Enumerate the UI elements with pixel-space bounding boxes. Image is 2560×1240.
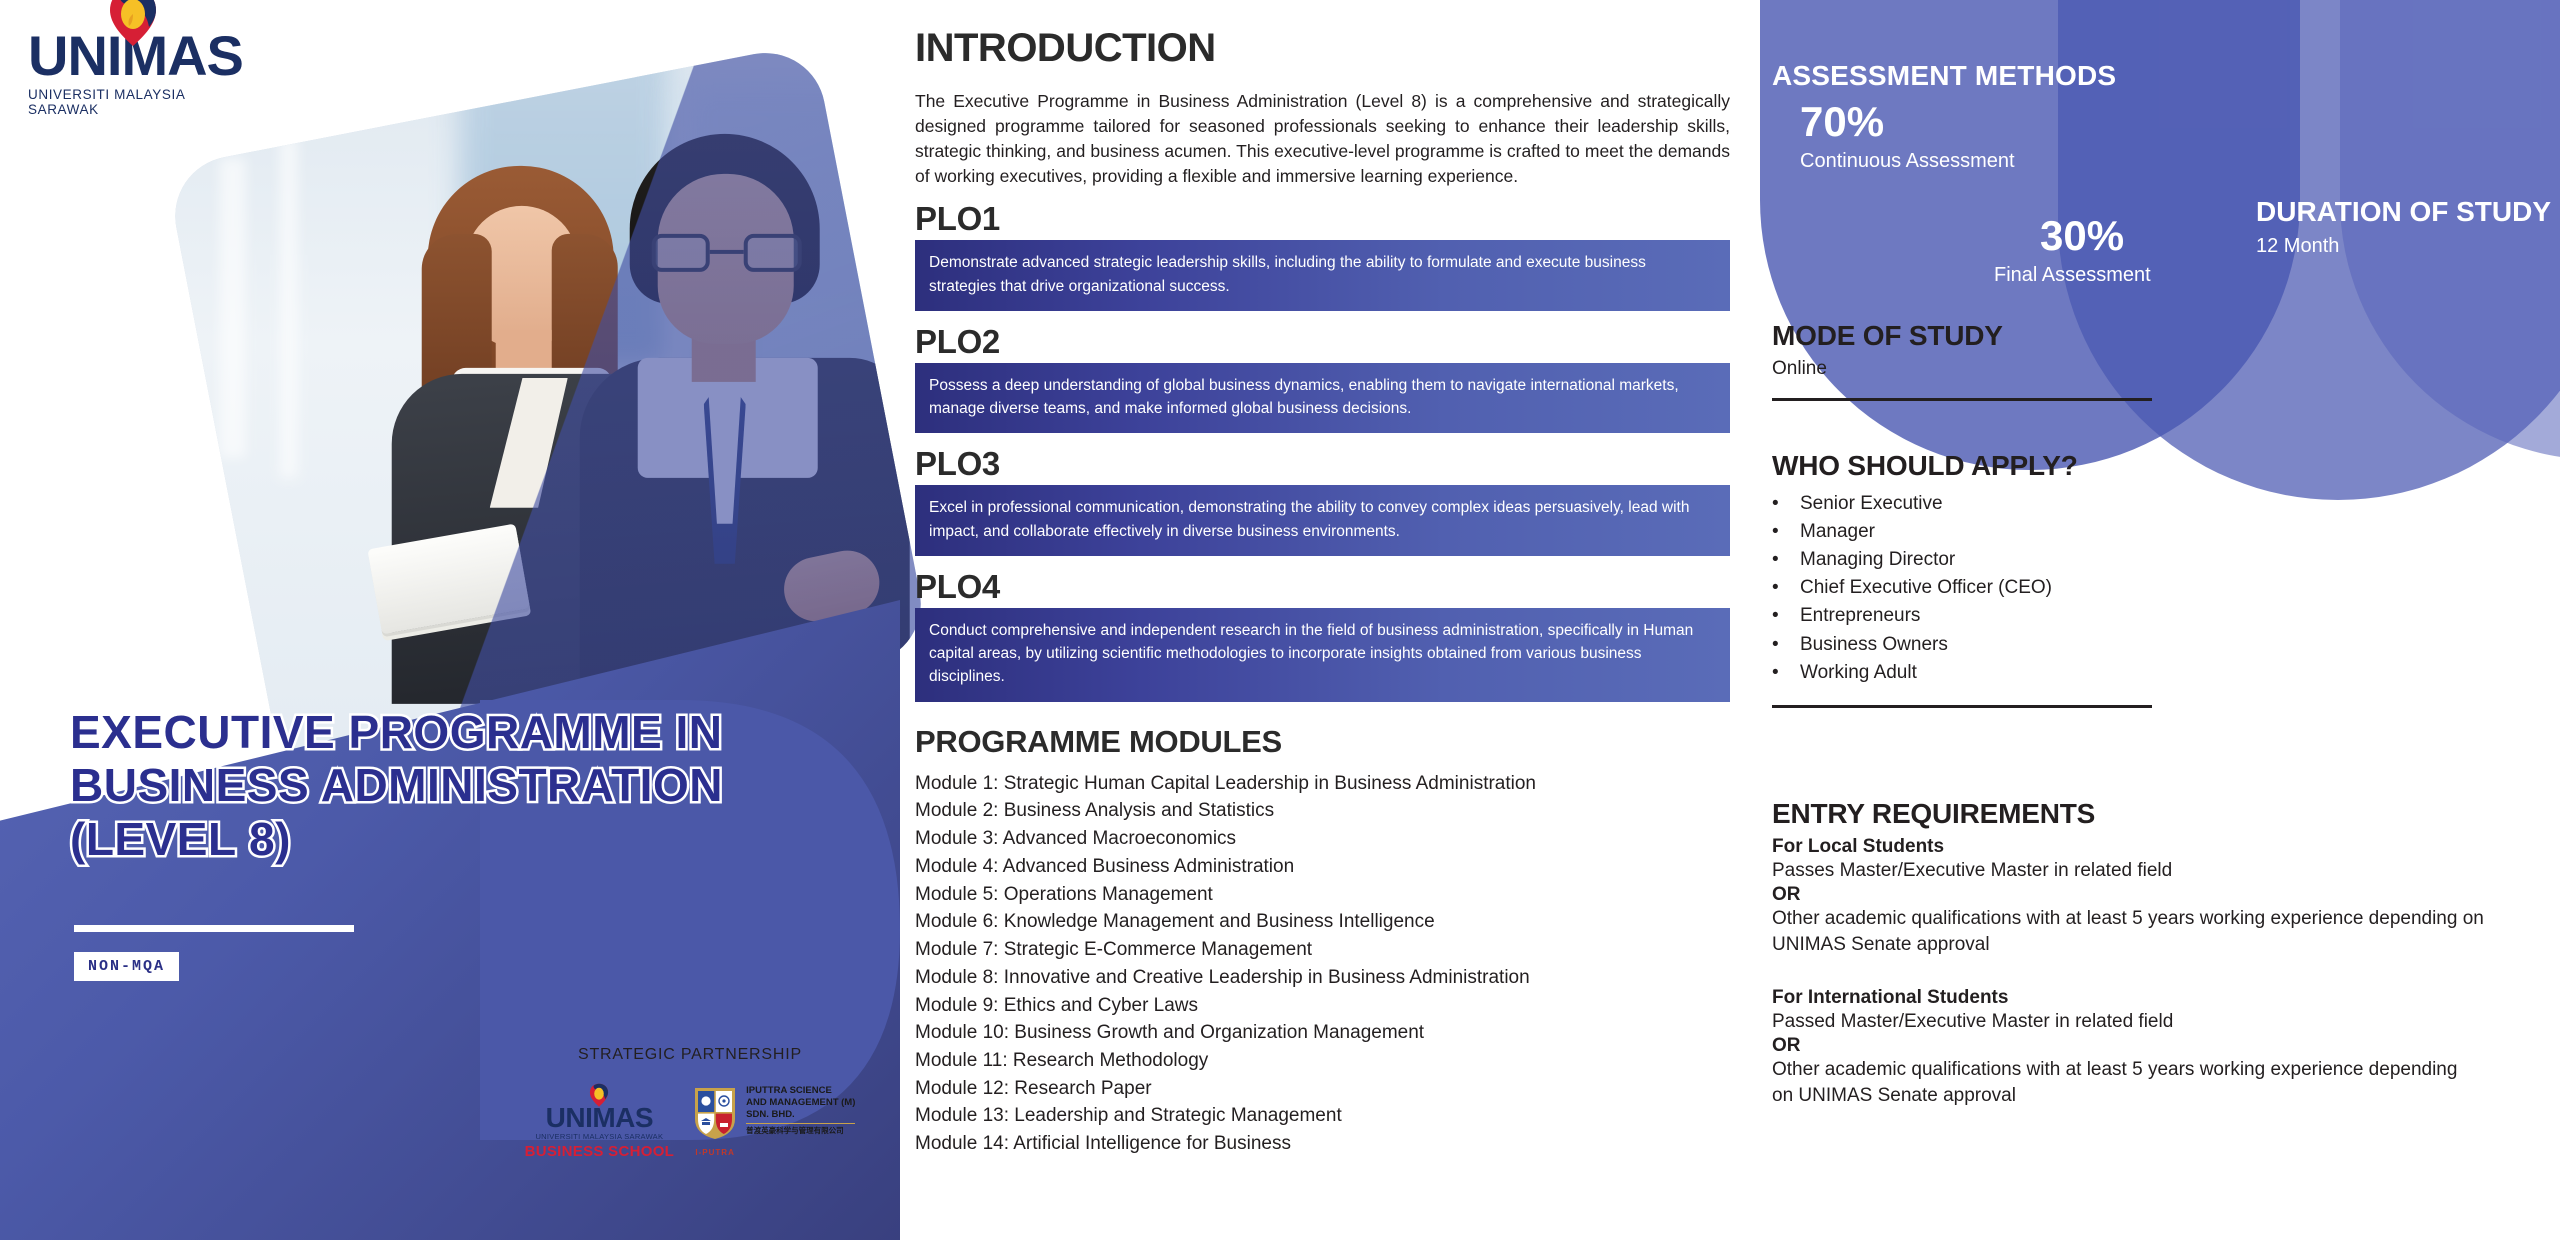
list-item: Module 2: Business Analysis and Statisti… — [915, 797, 1730, 825]
unimas-bs-tagline: UNIVERSITI MALAYSIA SARAWAK — [525, 1132, 675, 1141]
programme-modules-list: Module 1: Strategic Human Capital Leader… — [915, 770, 1730, 1158]
list-item: Module 5: Operations Management — [915, 881, 1730, 909]
page-title-line-2: BUSINESS ADMINISTRATION — [70, 759, 850, 812]
who-should-apply-heading: WHO SHOULD APPLY? — [1772, 450, 2152, 482]
introduction-heading: INTRODUCTION — [915, 26, 1730, 71]
list-item: Module 1: Strategic Human Capital Leader… — [915, 770, 1730, 798]
bullet-icon: • — [1772, 631, 1778, 659]
page-title-line-1: EXECUTIVE PROGRAMME IN — [70, 706, 850, 759]
bullet-icon: • — [1772, 518, 1778, 546]
page-title-line-3: (LEVEL 8) — [70, 813, 850, 866]
list-item: Module 10: Business Growth and Organizat… — [915, 1019, 1730, 1047]
who-should-apply-list: •Senior Executive •Manager •Managing Dir… — [1772, 490, 2152, 687]
page-title: EXECUTIVE PROGRAMME IN BUSINESS ADMINIST… — [70, 706, 850, 866]
local-students-req-1: Passes Master/Executive Master in relate… — [1772, 858, 2512, 884]
shield-icon — [692, 1085, 738, 1141]
plo1-label: PLO1 — [915, 200, 1730, 238]
list-item-label: Business Owners — [1800, 631, 1948, 659]
list-item: Module 8: Innovative and Creative Leader… — [915, 964, 1730, 992]
iputra-chinese-name: 普渡英豪科学与管理有限公司 — [746, 1123, 855, 1135]
list-item: •Chief Executive Officer (CEO) — [1772, 574, 2152, 602]
final-assessment-percent: 30% — [2040, 212, 2124, 260]
bullet-icon: • — [1772, 574, 1778, 602]
list-item: Module 13: Leadership and Strategic Mana… — [915, 1102, 1730, 1130]
assessment-heading: ASSESSMENT METHODS — [1772, 60, 2116, 92]
list-item: Module 9: Ethics and Cyber Laws — [915, 992, 1730, 1020]
programme-modules-heading: PROGRAMME MODULES — [915, 724, 1730, 760]
international-students-heading: For International Students — [1772, 987, 2512, 1009]
mode-of-study-value: Online — [1772, 358, 2152, 380]
list-item: •Working Adult — [1772, 659, 2152, 687]
entry-requirements-block: ENTRY REQUIREMENTS For Local Students Pa… — [1772, 798, 2512, 1109]
list-item-label: Managing Director — [1800, 546, 1955, 574]
bullet-icon: • — [1772, 490, 1778, 518]
status-badge: NON-MQA — [74, 952, 179, 981]
local-or-separator: OR — [1772, 884, 2512, 906]
list-item-label: Entrepreneurs — [1800, 602, 1920, 630]
main-content-column: INTRODUCTION The Executive Programme in … — [915, 26, 1730, 1158]
plo4-text: Conduct comprehensive and independent re… — [915, 608, 1730, 702]
bullet-icon: • — [1772, 602, 1778, 630]
iputra-company-name: IPUTTRA SCIENCE AND MANAGEMENT (M) SDN. … — [746, 1085, 855, 1135]
list-item: Module 4: Advanced Business Administrati… — [915, 853, 1730, 881]
final-assessment-label: Final Assessment — [1994, 264, 2151, 287]
section-divider — [1772, 398, 2152, 401]
mode-of-study-heading: MODE OF STUDY — [1772, 320, 2152, 352]
mode-of-study-block: MODE OF STUDY Online — [1772, 320, 2152, 401]
introduction-body: The Executive Programme in Business Admi… — [915, 89, 1730, 188]
entry-requirements-heading: ENTRY REQUIREMENTS — [1772, 798, 2512, 830]
iputra-line-3: SDN. BHD. — [746, 1109, 855, 1121]
international-students-req-1: Passed Master/Executive Master in relate… — [1772, 1009, 2512, 1035]
continuous-assessment-percent: 70% — [1800, 98, 1884, 146]
list-item: Module 11: Research Methodology — [915, 1047, 1730, 1075]
list-item-label: Manager — [1800, 518, 1875, 546]
unimas-logo: UNIMAS UNIVERSITI MALAYSIA SARAWAK — [28, 28, 258, 117]
local-students-heading: For Local Students — [1772, 836, 2512, 858]
unimas-bs-wordmark: UNIMAS — [525, 1104, 675, 1132]
plo3-label: PLO3 — [915, 445, 1730, 483]
international-students-req-2: Other academic qualifications with at le… — [1772, 1057, 2472, 1109]
unimas-business-school-logo: UNIMAS UNIVERSITI MALAYSIA SARAWAK BUSIN… — [525, 1082, 675, 1160]
iputra-shield-logo: I-PUTRA — [692, 1085, 738, 1157]
list-item: Module 7: Strategic E-Commerce Managemen… — [915, 936, 1730, 964]
list-item-label: Chief Executive Officer (CEO) — [1800, 574, 2052, 602]
section-divider — [1772, 705, 2152, 708]
unimas-tagline: UNIVERSITI MALAYSIA SARAWAK — [28, 87, 258, 117]
plo2-text: Possess a deep understanding of global b… — [915, 363, 1730, 434]
duration-heading: DURATION OF STUDY — [2256, 196, 2551, 228]
list-item: •Senior Executive — [1772, 490, 2152, 518]
duration-value: 12 Month — [2256, 235, 2339, 258]
plo4-label: PLO4 — [915, 568, 1730, 606]
partnership-heading: STRATEGIC PARTNERSHIP — [490, 1046, 890, 1064]
iputra-line-2: AND MANAGEMENT (M) — [746, 1097, 855, 1109]
iputra-line-1: IPUTTRA SCIENCE — [746, 1085, 855, 1097]
list-item-label: Working Adult — [1800, 659, 1917, 687]
unimas-logo-mark — [100, 0, 166, 50]
plo2-label: PLO2 — [915, 323, 1730, 361]
business-school-label: BUSINESS SCHOOL — [525, 1143, 675, 1160]
list-item: Module 12: Research Paper — [915, 1075, 1730, 1103]
plo1-text: Demonstrate advanced strategic leadershi… — [915, 240, 1730, 311]
list-item: •Entrepreneurs — [1772, 602, 2152, 630]
bullet-icon: • — [1772, 546, 1778, 574]
who-should-apply-block: WHO SHOULD APPLY? •Senior Executive •Man… — [1772, 450, 2152, 708]
list-item: Module 3: Advanced Macroeconomics — [915, 825, 1730, 853]
list-item: Module 14: Artificial Intelligence for B… — [915, 1130, 1730, 1158]
list-item-label: Senior Executive — [1800, 490, 1943, 518]
international-or-separator: OR — [1772, 1035, 2512, 1057]
left-hero-panel: UNIMAS UNIVERSITI MALAYSIA SARAWAK EXECU… — [0, 0, 900, 1188]
title-divider — [74, 925, 354, 932]
iputra-label: I-PUTRA — [692, 1148, 738, 1157]
bullet-icon: • — [1772, 659, 1778, 687]
list-item: Module 6: Knowledge Management and Busin… — [915, 908, 1730, 936]
list-item: •Business Owners — [1772, 631, 2152, 659]
list-item: •Manager — [1772, 518, 2152, 546]
plo3-text: Excel in professional communication, dem… — [915, 485, 1730, 556]
local-students-req-2: Other academic qualifications with at le… — [1772, 906, 2512, 958]
list-item: •Managing Director — [1772, 546, 2152, 574]
continuous-assessment-label: Continuous Assessment — [1800, 150, 2015, 173]
strategic-partnership: STRATEGIC PARTNERSHIP UNIMAS UNIVERSITI … — [490, 1046, 890, 1160]
